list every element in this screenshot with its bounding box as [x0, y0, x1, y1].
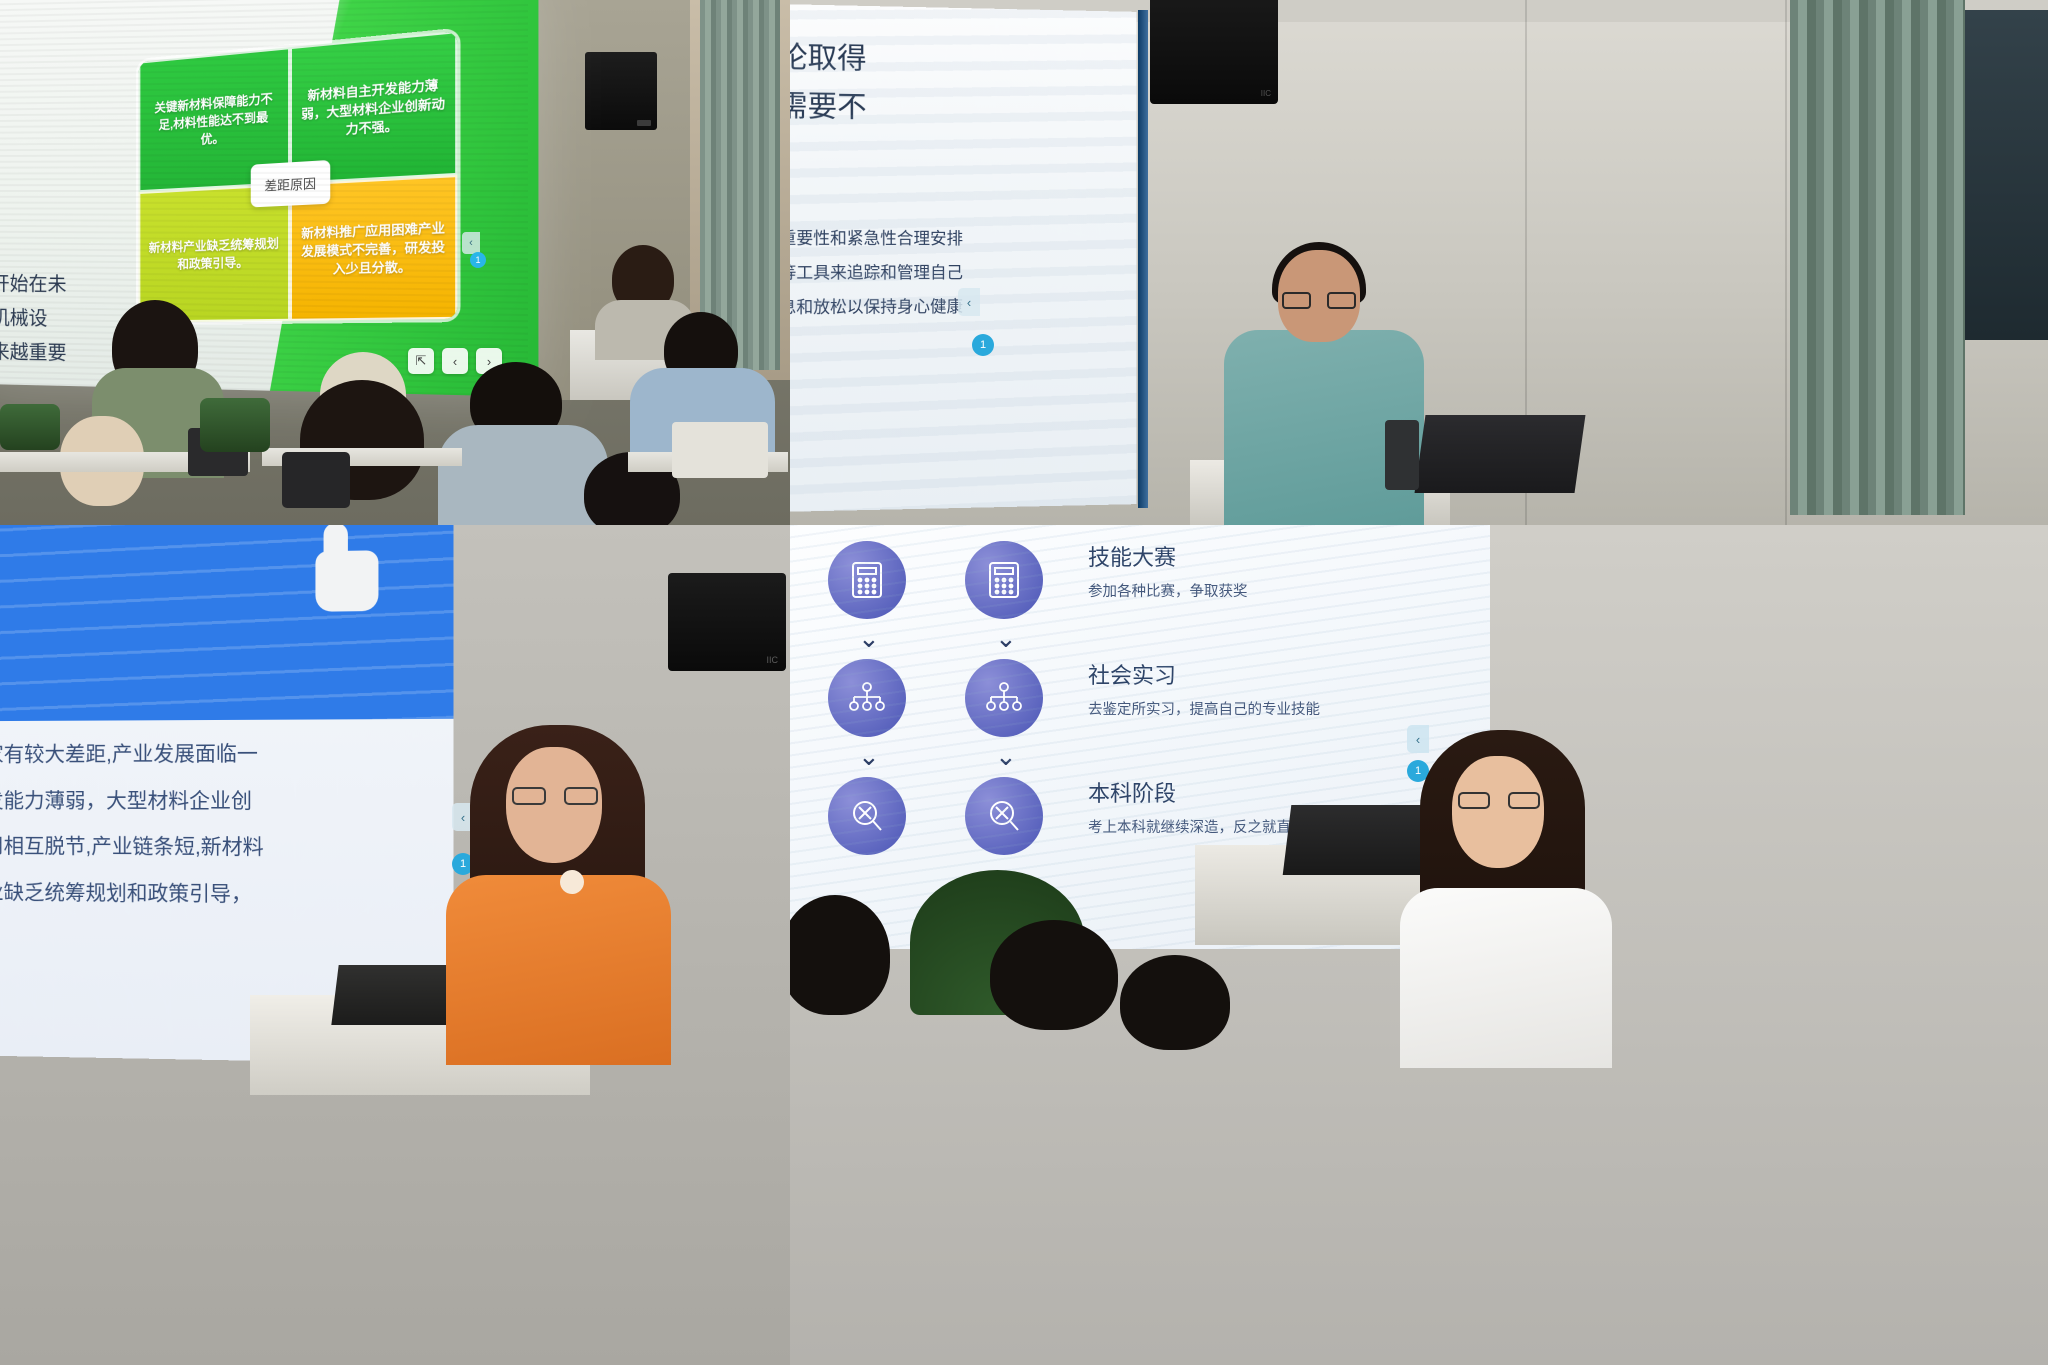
body3-line-1: 开发能力薄弱，大型材料企业创 — [0, 778, 400, 825]
laptop-2 — [1415, 415, 1586, 493]
prev-icon[interactable]: ‹ — [442, 348, 468, 374]
photo-collage: 设计 生? 生? ? 的分析开始在未 尤其是机械设 得出越来越重要 关键新材料保… — [0, 0, 2048, 1365]
plant — [200, 398, 270, 452]
slide-prev-tab-icon-2[interactable]: ‹ — [958, 288, 980, 316]
screen-bezel-2 — [1138, 10, 1148, 508]
share-icon[interactable]: ⇱ — [408, 348, 434, 374]
left-line-1: 生? — [0, 104, 134, 148]
quadrant-bottom-right: ⌄ ⌄ 技能大赛 参加各种比赛，争取获奖 — [790, 525, 2048, 1365]
quadrant-top-left: 设计 生? 生? ? 的分析开始在未 尤其是机械设 得出越来越重要 关键新材料保… — [0, 0, 790, 525]
slide-left-text: 设计 生? 生? ? 的分析开始在未 尤其是机械设 得出越来越重要 — [0, 62, 134, 373]
presenter-torso — [1400, 888, 1612, 1068]
left-line-0: 设计 — [0, 62, 134, 107]
projection-screen-1: 设计 生? 生? ? 的分析开始在未 尤其是机械设 得出越来越重要 关键新材料保… — [0, 0, 528, 397]
glasses-icon — [1282, 292, 1356, 309]
ceiling-speaker-2 — [1150, 0, 1278, 104]
presenter-head — [1452, 756, 1544, 868]
person-silhouette — [438, 425, 608, 525]
slide-prev-tab-icon[interactable]: ‹ — [462, 232, 480, 254]
body3-line-4: 。 — [0, 916, 400, 967]
presenter-torso — [446, 875, 671, 1065]
plant — [0, 404, 60, 450]
ceiling-speaker-3 — [668, 573, 786, 671]
body3-line-2: 研用相互脱节,产业链条短,新材料 — [0, 825, 400, 873]
slide-page-badge-2[interactable]: 1 — [972, 334, 994, 356]
screen-scanlines-2 — [790, 4, 1137, 512]
slide-page-badge[interactable]: 1 — [470, 252, 486, 268]
ceiling-speaker — [585, 52, 657, 130]
window — [1960, 10, 2048, 340]
presenter-male — [1230, 250, 1410, 525]
glasses-icon — [1458, 792, 1540, 809]
gap-cause-matrix: 关键新材料保障能力不足,材料性能达不到最优。 新材料自主开发能力薄弱，大型材料企… — [139, 31, 458, 322]
person-silhouette — [1120, 955, 1230, 1050]
badge-pin — [560, 870, 584, 894]
projection-screen-2: 论取得 需要不 。 的重要性和紧急性合理安排 频等工具来追踪和管理自己 休息和放… — [790, 4, 1137, 512]
wall-seam — [1785, 0, 1787, 525]
laptop — [672, 422, 768, 478]
presenter-head — [506, 747, 602, 863]
matrix-center-label: 差距原因 — [251, 160, 331, 208]
quadrant-top-right: 论取得 需要不 。 的重要性和紧急性合理安排 频等工具来追踪和管理自己 休息和放… — [790, 0, 2048, 525]
slide-body-3: 国家有较大差距,产业发展面临一 开发能力薄弱，大型材料企业创 研用相互脱节,产业… — [0, 731, 400, 967]
body3-line-3: 产业缺乏统筹规划和政策引导， — [0, 870, 400, 920]
body3-line-0: 国家有较大差距,产业发展面临一 — [0, 731, 400, 779]
person-silhouette — [790, 895, 890, 1015]
device — [1385, 420, 1419, 490]
person-silhouette — [990, 920, 1118, 1030]
quadrant-bottom-left: 国家有较大差距,产业发展面临一 开发能力薄弱，大型材料企业创 研用相互脱节,产业… — [0, 525, 790, 1365]
thumbs-up-icon — [315, 525, 386, 620]
presenter-female-white — [1420, 730, 1595, 1060]
left-line-3: ? — [0, 189, 134, 232]
curtain-2 — [1790, 0, 1965, 515]
chair — [282, 452, 350, 508]
left-body-0: 的分析开始在未 — [0, 267, 134, 303]
glasses-icon — [512, 787, 598, 805]
left-line-2: 生? — [0, 147, 134, 190]
